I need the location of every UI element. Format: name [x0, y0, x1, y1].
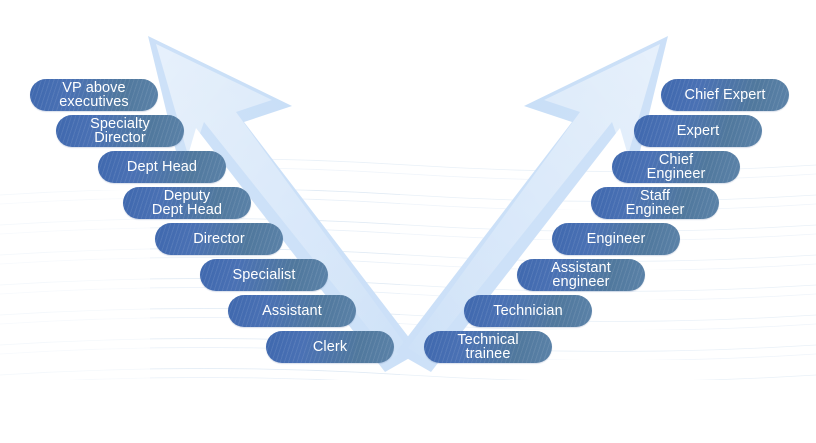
list-item[interactable]: Expert — [634, 115, 762, 147]
level-label: VP above executives — [45, 81, 143, 110]
list-item[interactable]: Technical trainee — [424, 331, 552, 363]
list-item[interactable]: Assistant — [228, 295, 356, 327]
list-item[interactable]: Engineer — [552, 223, 680, 255]
level-label: Chief Engineer — [633, 153, 720, 182]
list-item[interactable]: Specialty Director — [56, 115, 184, 147]
level-label: Engineer — [573, 232, 660, 247]
level-label: Expert — [663, 124, 734, 139]
level-label: Assistant engineer — [537, 261, 625, 290]
level-label: Specialist — [218, 268, 309, 283]
list-item[interactable]: VP above executives — [30, 79, 158, 111]
level-label: Technician — [479, 304, 577, 319]
list-item[interactable]: Dept Head — [98, 151, 226, 183]
level-label: Technical trainee — [443, 333, 532, 362]
arrow-layer — [0, 0, 816, 443]
level-label: Dept Head — [113, 160, 211, 175]
level-label: Specialty Director — [76, 117, 164, 146]
list-item[interactable]: Director — [155, 223, 283, 255]
level-label: Director — [179, 232, 259, 247]
list-item[interactable]: Clerk — [266, 331, 394, 363]
list-item[interactable]: Chief Engineer — [612, 151, 740, 183]
level-label: Assistant — [248, 304, 336, 319]
list-item[interactable]: Specialist — [200, 259, 328, 291]
level-label: Chief Expert — [671, 88, 780, 103]
level-label: Clerk — [299, 340, 361, 355]
level-label: Deputy Dept Head — [138, 189, 236, 218]
level-label: Staff Engineer — [612, 189, 699, 218]
career-ladder-diagram: VP above executives Specialty Director D… — [0, 0, 816, 443]
list-item[interactable]: Technician — [464, 295, 592, 327]
list-item[interactable]: Chief Expert — [661, 79, 789, 111]
list-item[interactable]: Staff Engineer — [591, 187, 719, 219]
list-item[interactable]: Assistant engineer — [517, 259, 645, 291]
list-item[interactable]: Deputy Dept Head — [123, 187, 251, 219]
